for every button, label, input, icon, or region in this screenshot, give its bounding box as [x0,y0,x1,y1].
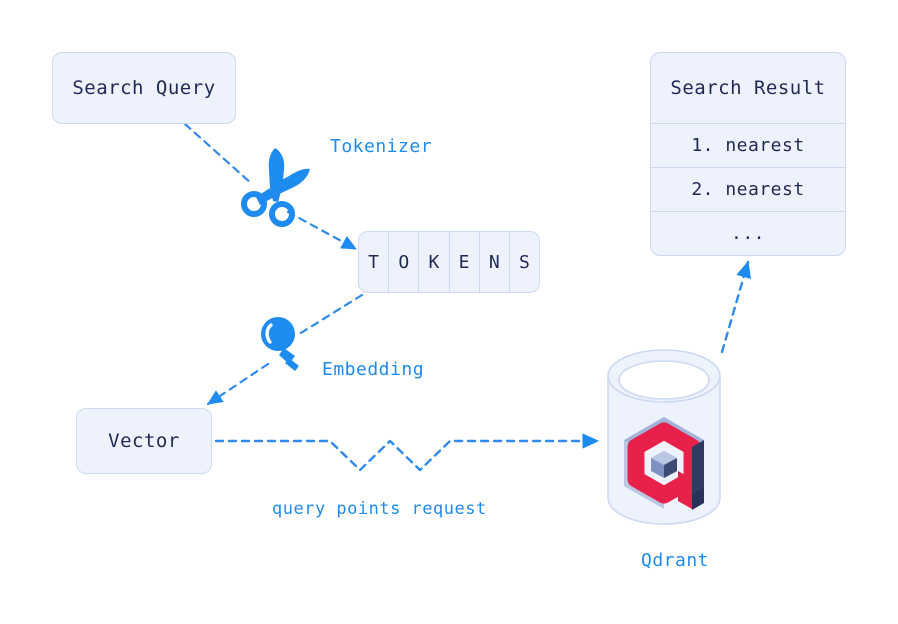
token-cell: S [510,232,539,292]
vector-box[interactable]: Vector [76,408,212,474]
query-points-request-label: query points request [272,499,487,519]
qdrant-label: Qdrant [641,550,709,571]
token-cell: O [389,232,419,292]
search-result-row[interactable]: 1. nearest [651,124,845,168]
embedding-label: Embedding [322,359,424,380]
search-query-box[interactable]: Search Query [52,52,236,124]
search-result-header: Search Result [651,53,845,124]
token-cell: K [419,232,449,292]
search-query-label: Search Query [53,53,235,123]
search-result-row[interactable]: 2. nearest [651,168,845,212]
vector-label: Vector [77,409,211,473]
token-cell: T [359,232,389,292]
diagram-canvas: Search Query T O K E N S Vector Search R… [0,0,898,624]
search-result-panel[interactable]: Search Result 1. nearest 2. nearest ... [650,52,846,256]
tokens-box[interactable]: T O K E N S [358,231,540,293]
token-cell: E [450,232,480,292]
search-result-row[interactable]: ... [651,212,845,255]
token-cell: N [480,232,510,292]
tokenizer-label: Tokenizer [330,136,432,157]
